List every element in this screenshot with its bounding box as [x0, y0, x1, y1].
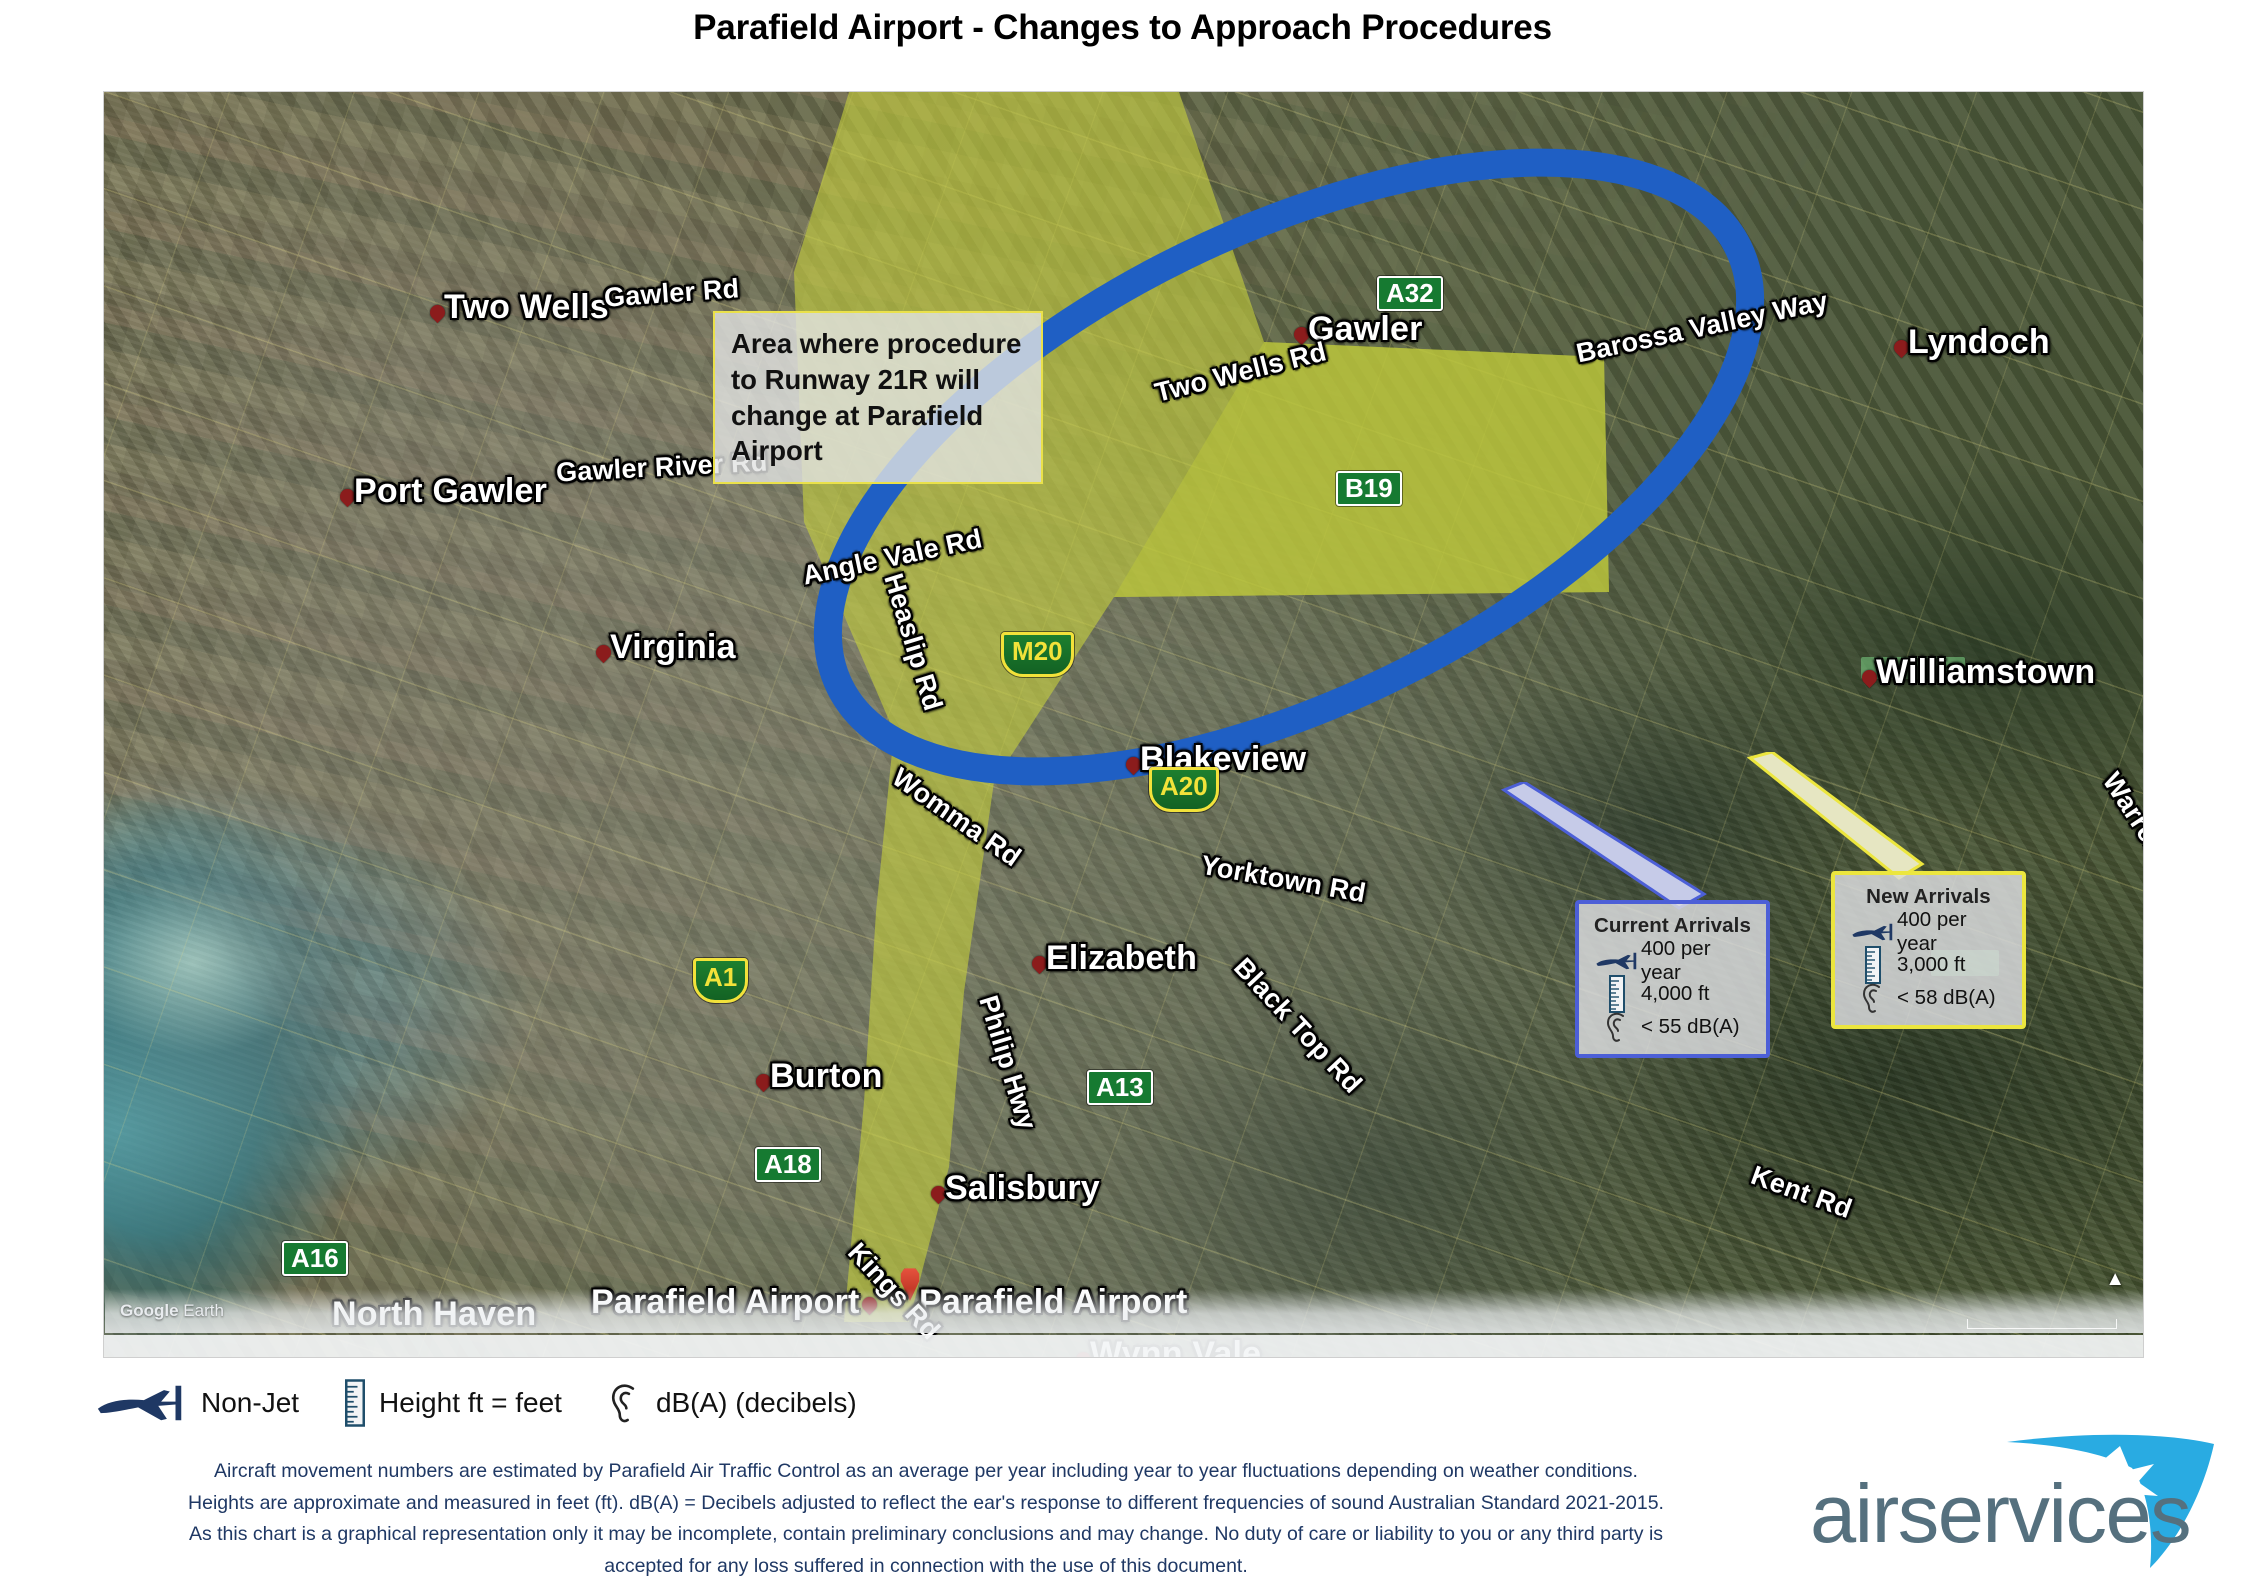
disclaimer-line-3: As this chart is a graphical representat…	[96, 1519, 1756, 1551]
shield-a32[interactable]: A32	[1377, 276, 1443, 311]
callout-movements-value: 400 per year	[1641, 937, 1752, 985]
callout-height-value: 3,000 ft	[1897, 953, 1965, 977]
attribution-brand: Google	[120, 1301, 179, 1320]
shield-m20[interactable]: M20	[1001, 632, 1074, 677]
area-note-line-4: Airport	[731, 433, 1025, 469]
callout-new-arrivals[interactable]: New Arrivals 400 per year	[1831, 871, 2026, 1029]
shield-a20[interactable]: A20	[1149, 767, 1219, 812]
area-note-line-3: change at Parafield	[731, 398, 1025, 434]
place-label-lyndoch: Lyndoch	[1908, 323, 2050, 362]
aircraft-icon	[95, 1381, 187, 1425]
place-label-virginia: Virginia	[610, 628, 736, 667]
callout-height-value: 4,000 ft	[1641, 982, 1709, 1006]
area-change-annotation: Area where procedure to Runway 21R will …	[713, 311, 1043, 484]
callout-row-movements: 400 per year	[1849, 915, 2008, 948]
shield-a18[interactable]: A18	[755, 1147, 821, 1182]
place-label-burton: Burton	[770, 1057, 883, 1096]
callout-row-noise: < 55 dB(A)	[1593, 1010, 1752, 1043]
place-label-two-wells: Two Wells	[444, 288, 609, 327]
callout-title: Current Arrivals	[1593, 914, 1752, 938]
callout-row-noise: < 58 dB(A)	[1849, 981, 2008, 1014]
leader-line-current	[1494, 782, 1714, 912]
ruler-icon	[345, 1378, 365, 1428]
north-arrow-icon: ▲	[2105, 1268, 2125, 1291]
aircraft-icon	[1849, 921, 1897, 943]
disclaimer-line-2: Heights are approximate and measured in …	[96, 1488, 1756, 1520]
place-label-elizabeth: Elizabeth	[1046, 939, 1197, 978]
callout-row-movements: 400 per year	[1593, 944, 1752, 977]
shield-b19[interactable]: B19	[1336, 471, 1402, 506]
area-note-line-2: to Runway 21R will	[731, 362, 1025, 398]
satellite-map[interactable]: Two Wells Port Gawler Virginia Gawler Ly…	[103, 91, 2144, 1358]
callout-movements-value: 400 per year	[1897, 908, 2008, 956]
legend-item-decibels: dB(A) (decibels)	[608, 1382, 857, 1424]
ear-icon	[608, 1382, 642, 1424]
aircraft-icon	[1593, 950, 1641, 972]
ruler-icon	[1593, 975, 1641, 1013]
legend-label-decibels: dB(A) (decibels)	[656, 1387, 857, 1419]
legend-item-non-jet: Non-Jet	[95, 1381, 299, 1425]
ear-icon	[1593, 1011, 1641, 1043]
legend-item-height: Height ft = feet	[345, 1378, 562, 1428]
logo-wordmark: airservices	[1810, 1467, 2190, 1560]
callout-noise-value: < 58 dB(A)	[1897, 986, 1996, 1010]
ear-icon	[1849, 982, 1897, 1014]
place-label-port-gawler: Port Gawler	[354, 472, 547, 511]
map-attribution-bar	[104, 1335, 2143, 1357]
ruler-icon	[1849, 946, 1897, 984]
google-earth-attribution: Google Earth	[120, 1301, 224, 1321]
callout-title: New Arrivals	[1849, 885, 2008, 909]
place-label-salisbury: Salisbury	[945, 1169, 1100, 1208]
map-attribution-gradient	[105, 1289, 2144, 1333]
highlight-ellipse	[104, 92, 2143, 1357]
disclaimer-line-1: Aircraft movement numbers are estimated …	[96, 1456, 1756, 1488]
shield-a16[interactable]: A16	[282, 1241, 348, 1276]
disclaimer: Aircraft movement numbers are estimated …	[96, 1456, 1756, 1582]
map-scale-bar	[1967, 1319, 2117, 1329]
shield-a1[interactable]: A1	[693, 958, 748, 1003]
legend: Non-Jet Height ft = feet	[95, 1368, 1095, 1438]
legend-label-non-jet: Non-Jet	[201, 1387, 299, 1419]
legend-label-height: Height ft = feet	[379, 1387, 562, 1419]
shield-a13[interactable]: A13	[1087, 1070, 1153, 1105]
airservices-logo: airservices	[1802, 1430, 2222, 1580]
disclaimer-line-4: accepted for any loss suffered in connec…	[96, 1551, 1756, 1583]
callout-current-arrivals[interactable]: Current Arrivals 400 per year	[1575, 900, 1770, 1058]
attribution-product: Earth	[179, 1301, 224, 1320]
page-title: Parafield Airport - Changes to Approach …	[0, 8, 2245, 48]
place-label-williamstown: Williamstown	[1876, 653, 2095, 692]
place-label-gawler: Gawler	[1308, 310, 1423, 349]
poster-root: Parafield Airport - Changes to Approach …	[0, 0, 2245, 1587]
leader-line-new	[1744, 752, 1934, 882]
area-note-line-1: Area where procedure	[731, 326, 1025, 362]
callout-noise-value: < 55 dB(A)	[1641, 1015, 1740, 1039]
